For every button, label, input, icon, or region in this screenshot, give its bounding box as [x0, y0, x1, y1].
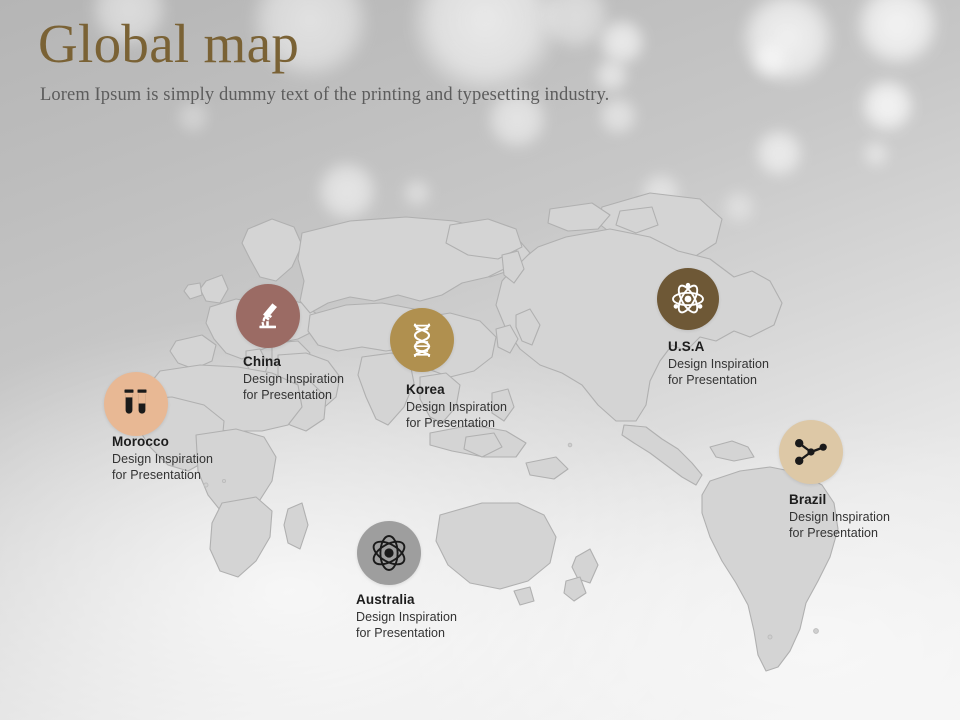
landmass-island-dot	[204, 483, 208, 487]
atom-orbital-icon	[370, 534, 408, 572]
marker-text-brazil: Brazil Design Inspiration for Presentati…	[789, 492, 890, 541]
marker-line-2: for Presentation	[789, 525, 890, 541]
landmass-ireland	[184, 283, 202, 299]
marker-name: China	[243, 354, 344, 371]
landmass-island-dot	[568, 443, 572, 447]
landmass-southern-africa	[210, 497, 272, 577]
test-tubes-icon	[122, 389, 150, 419]
marker-name: Morocco	[112, 434, 213, 451]
marker-line-1: Design Inspiration	[356, 609, 457, 625]
marker-bubble-korea[interactable]	[390, 308, 454, 372]
marker-line-1: Design Inspiration	[243, 371, 344, 387]
marker-bubble-china[interactable]	[236, 284, 300, 348]
marker-text-australia: Australia Design Inspiration for Present…	[356, 592, 457, 641]
marker-line-2: for Presentation	[243, 387, 344, 403]
marker-name: Brazil	[789, 492, 890, 509]
marker-bubble-australia[interactable]	[357, 521, 421, 585]
marker-name: Australia	[356, 592, 457, 609]
landmass-central-america	[622, 425, 702, 485]
landmass-tasmania	[514, 587, 534, 605]
marker-line-1: Design Inspiration	[112, 451, 213, 467]
atom-icon	[671, 282, 705, 316]
marker-text-morocco: Morocco Design Inspiration for Presentat…	[112, 434, 213, 483]
marker-line-2: for Presentation	[406, 415, 507, 431]
landmass-scandinavia	[242, 219, 302, 281]
marker-text-china: China Design Inspiration for Presentatio…	[243, 354, 344, 403]
landmass-island-dot	[222, 479, 225, 482]
dna-helix-icon	[409, 323, 435, 357]
marker-line-1: Design Inspiration	[789, 509, 890, 525]
landmass-uk	[200, 275, 228, 303]
landmass-png	[526, 457, 568, 479]
marker-name: U.S.A	[668, 339, 769, 356]
molecule-node-icon	[794, 437, 828, 467]
landmass-caribbean	[710, 441, 754, 461]
landmass-madagascar	[284, 503, 308, 549]
page-subtitle: Lorem Ipsum is simply dummy text of the …	[40, 85, 798, 106]
marker-line-1: Design Inspiration	[406, 399, 507, 415]
marker-line-2: for Presentation	[112, 467, 213, 483]
marker-line-1: Design Inspiration	[668, 356, 769, 372]
microscope-icon	[252, 300, 284, 332]
marker-text-korea: Korea Design Inspiration for Presentatio…	[406, 382, 507, 431]
landmass-iberia	[170, 335, 216, 369]
marker-text-usa: U.S.A Design Inspiration for Presentatio…	[668, 339, 769, 388]
marker-bubble-morocco[interactable]	[104, 372, 168, 436]
marker-bubble-brazil[interactable]	[779, 420, 843, 484]
landmass-island-dot	[814, 629, 819, 634]
landmass-australia	[436, 503, 556, 589]
marker-bubble-usa[interactable]	[657, 268, 719, 330]
landmass-island-dot	[768, 635, 772, 639]
slide-canvas: Global map Lorem Ipsum is simply dummy t…	[0, 0, 960, 720]
header: Global map Lorem Ipsum is simply dummy t…	[38, 14, 798, 106]
marker-name: Korea	[406, 382, 507, 399]
marker-line-2: for Presentation	[668, 372, 769, 388]
page-title: Global map	[38, 14, 798, 75]
landmass-canada-arctic	[548, 203, 610, 231]
marker-line-2: for Presentation	[356, 625, 457, 641]
